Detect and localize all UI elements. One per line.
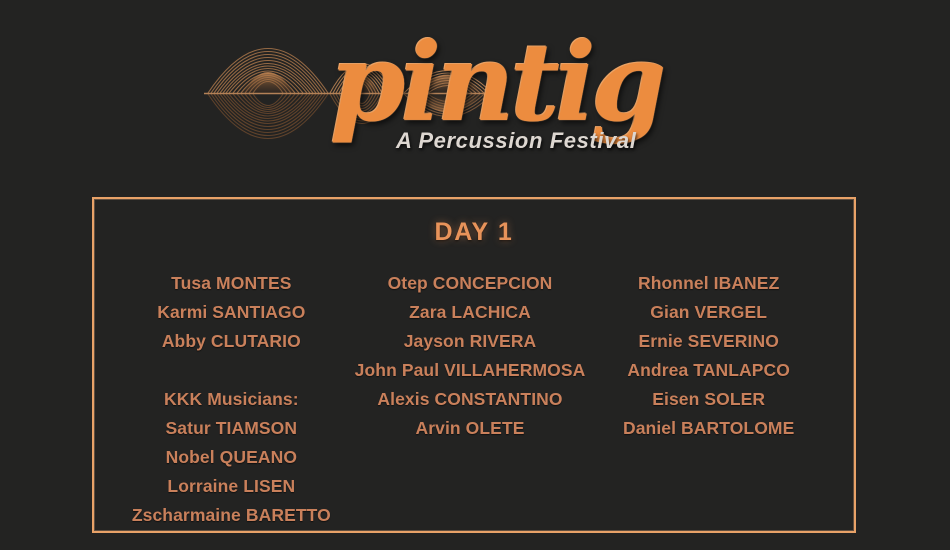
performer-name: Zara LACHICA xyxy=(409,298,531,327)
performer-name: Arvin OLETE xyxy=(415,414,524,443)
performer-name: Alexis CONSTANTINO xyxy=(377,385,562,414)
performer-name: Satur TIAMSON xyxy=(166,414,298,443)
performer-name: Otep CONCEPCION xyxy=(388,269,553,298)
performer-name: John Paul VILLAHERMOSA xyxy=(355,356,586,385)
performer-name: Lorraine LISEN xyxy=(167,472,295,501)
performer-name: Zscharmaine BARETTO xyxy=(132,501,331,530)
performer-name: Ernie SEVERINO xyxy=(638,327,778,356)
performer-name: Daniel BARTOLOME xyxy=(623,414,794,443)
lineup-columns: Tusa MONTESKarmi SANTIAGOAbby CLUTARIO K… xyxy=(94,269,854,530)
performer-name: Rhonnel IBANEZ xyxy=(638,269,779,298)
performer-name: Eisen SOLER xyxy=(652,385,765,414)
performer-name: Abby CLUTARIO xyxy=(162,327,301,356)
performer-name: Tusa MONTES xyxy=(171,269,291,298)
festival-poster: pintig A Percussion Festival DAY 1 Tusa … xyxy=(0,0,950,550)
lineup-column-1: Tusa MONTESKarmi SANTIAGOAbby CLUTARIO K… xyxy=(112,269,351,530)
lineup-panel: DAY 1 Tusa MONTESKarmi SANTIAGOAbby CLUT… xyxy=(92,197,856,533)
performer-name: Nobel QUEANO xyxy=(166,443,297,472)
logo-header: pintig A Percussion Festival xyxy=(0,0,950,185)
lineup-column-2: Otep CONCEPCIONZara LACHICAJayson RIVERA… xyxy=(351,269,590,530)
festival-tagline: A Percussion Festival xyxy=(396,128,636,154)
performer-name: Karmi SANTIAGO xyxy=(157,298,305,327)
performer-group-heading: KKK Musicians: xyxy=(164,385,299,414)
lineup-column-3: Rhonnel IBANEZGian VERGELErnie SEVERINOA… xyxy=(589,269,828,530)
performer-name: Jayson RIVERA xyxy=(404,327,537,356)
performer-name: Gian VERGEL xyxy=(650,298,767,327)
column-spacer xyxy=(229,356,234,385)
day-heading: DAY 1 xyxy=(94,218,854,247)
performer-name: Andrea TANLAPCO xyxy=(627,356,790,385)
